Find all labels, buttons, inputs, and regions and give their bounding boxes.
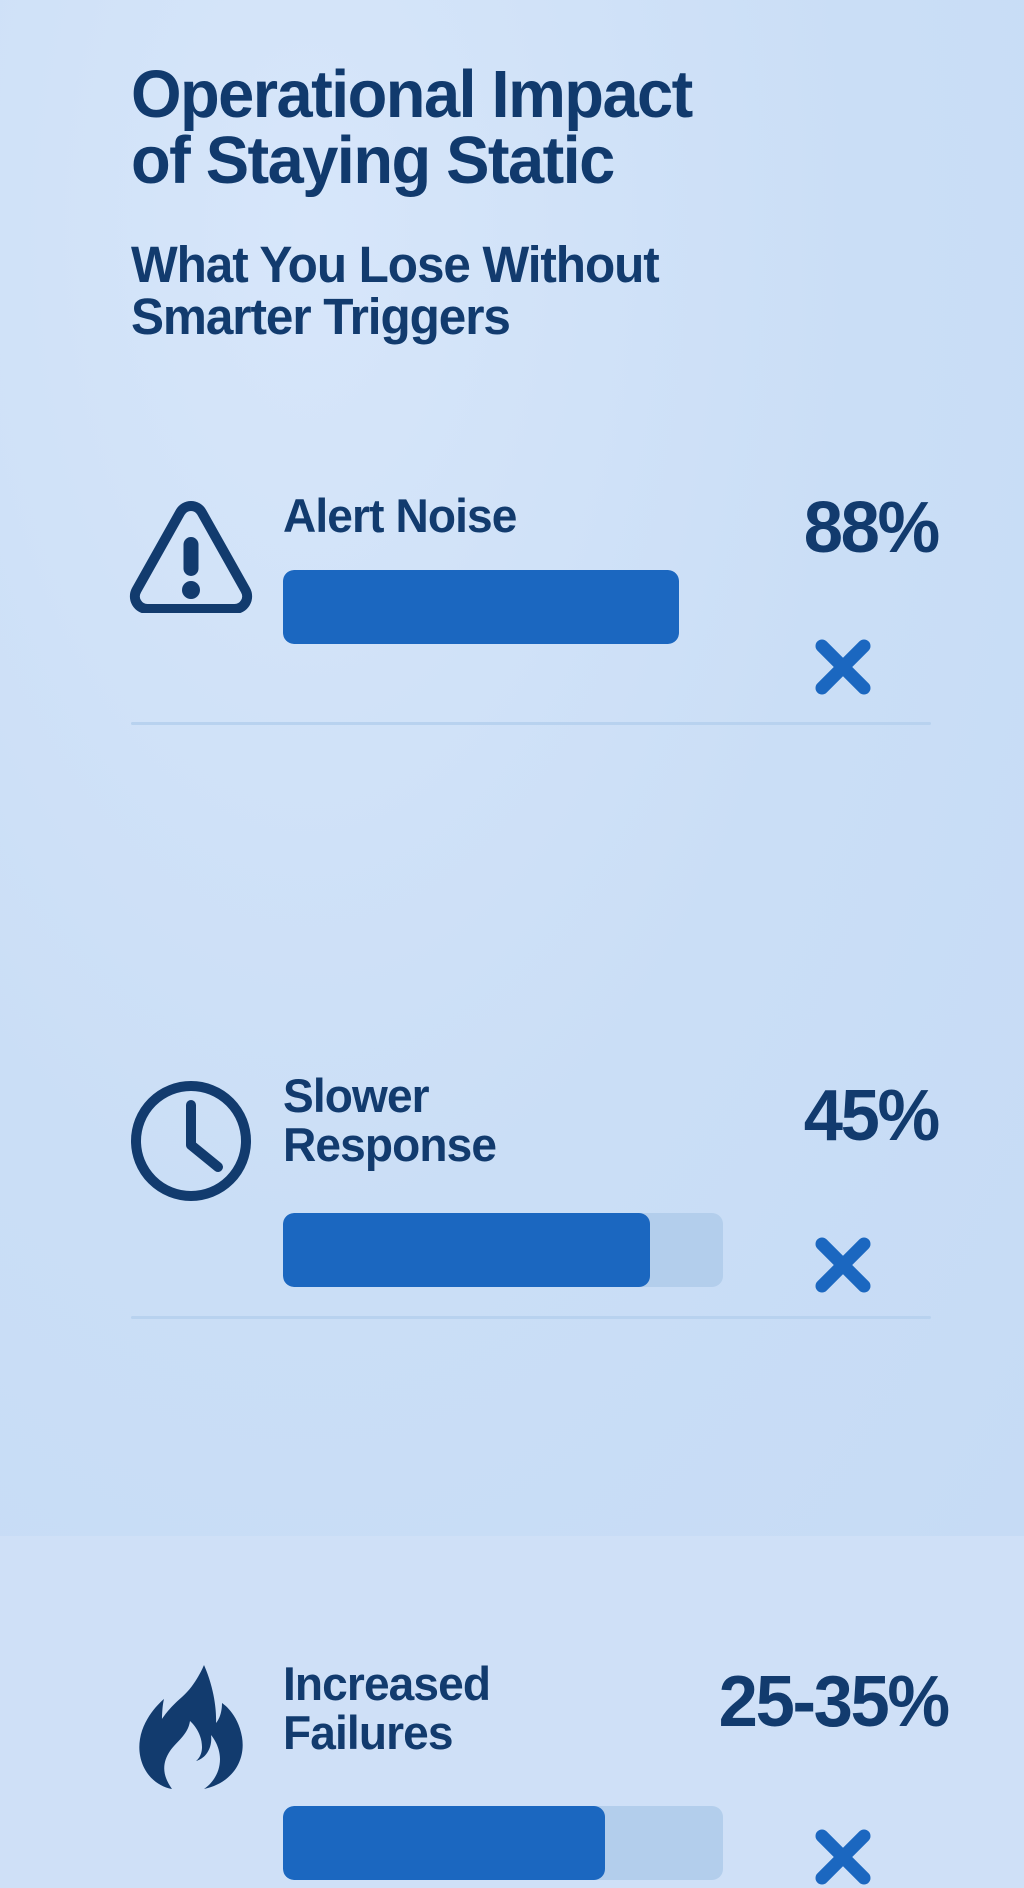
metric-value: 88%	[804, 492, 938, 564]
cross-icon	[812, 636, 874, 698]
metric-row: Alert Noise 88%	[0, 470, 1024, 738]
page-title: Operational Impact of Staying Static	[131, 62, 868, 193]
warning-triangle-icon	[128, 492, 254, 618]
metric-label: Increased Failures	[283, 1660, 490, 1758]
metric-row: Increased Failures 25-35%	[0, 1006, 1024, 1274]
progress-bar-track	[283, 570, 679, 644]
row-divider	[131, 722, 931, 725]
metric-label: Alert Noise	[283, 492, 516, 541]
header: Operational Impact of Staying Static Wha…	[131, 62, 891, 343]
page-subtitle: What You Lose Without Smarter Triggers	[131, 193, 868, 343]
metric-list: Alert Noise 88% Slower Response	[0, 470, 1024, 1274]
flame-icon	[128, 1664, 254, 1790]
progress-bar-track	[283, 1806, 723, 1880]
infographic-page: Operational Impact of Staying Static Wha…	[0, 0, 1024, 1536]
cross-icon	[812, 1826, 874, 1888]
metric-row: Slower Response 45%	[0, 738, 1024, 1006]
progress-bar-fill	[283, 570, 679, 644]
row-divider	[131, 1316, 931, 1319]
progress-bar-fill	[283, 1806, 605, 1880]
metric-value: 25-35%	[719, 1666, 948, 1738]
